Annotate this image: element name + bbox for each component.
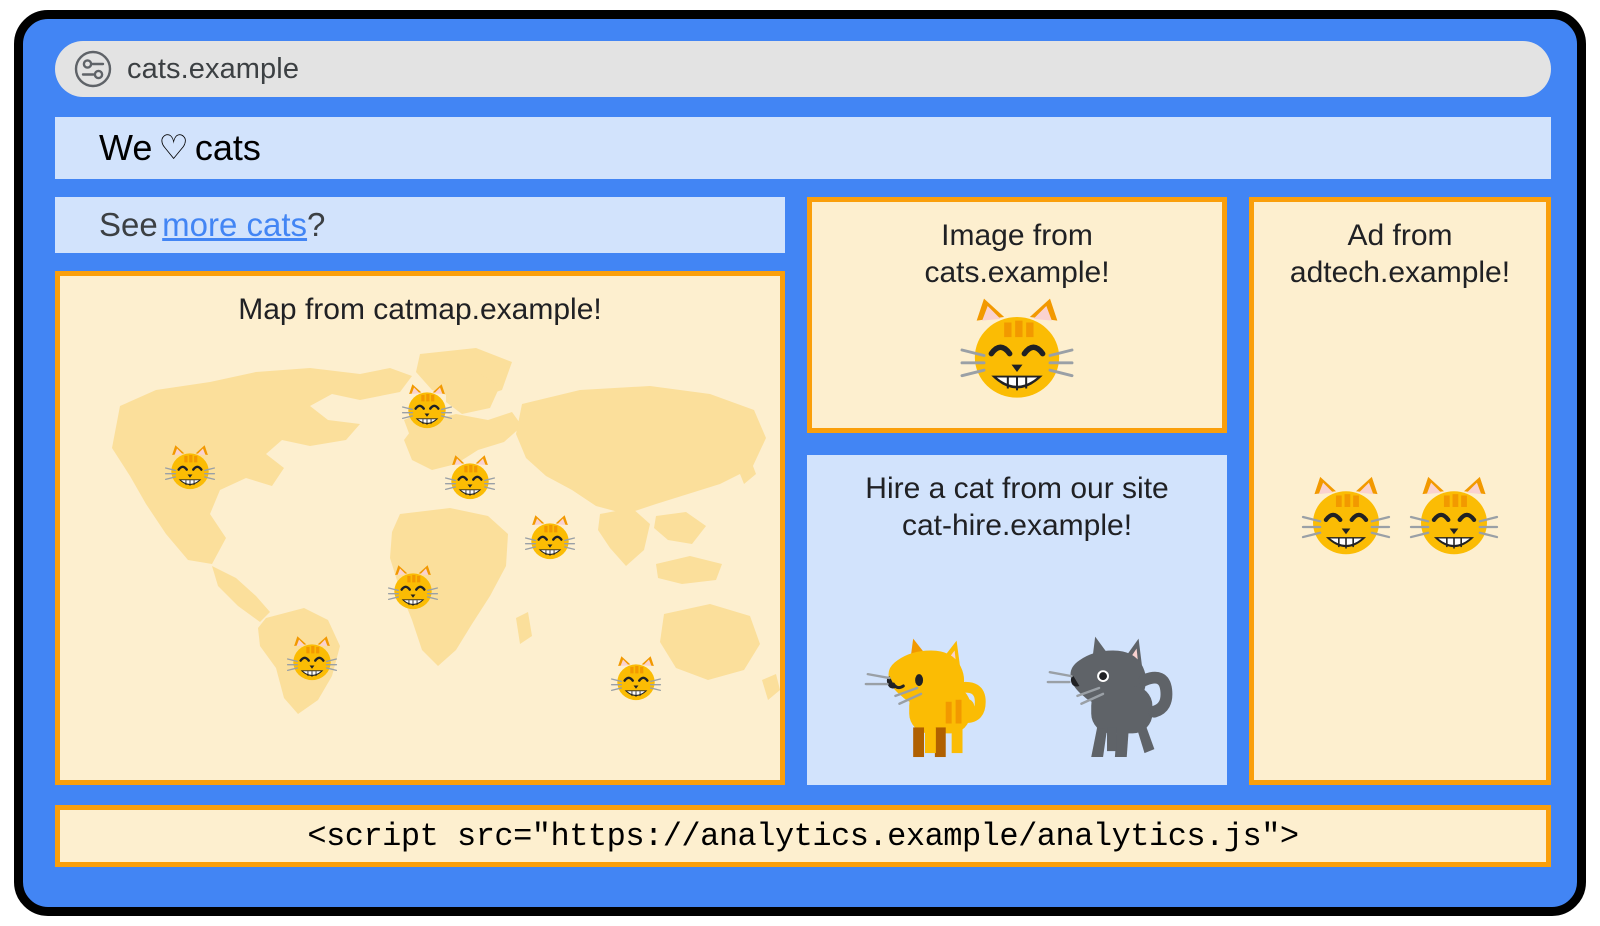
ad-panel-media <box>1254 474 1546 560</box>
heart-icon: ♡ <box>158 128 188 168</box>
orange-cat-icon <box>852 609 1000 761</box>
grinning-cat-icon <box>958 295 1076 405</box>
grinning-cat-icon <box>1408 474 1500 560</box>
more-cats-link[interactable]: more cats <box>162 206 307 244</box>
hero-banner: We ♡ cats <box>55 117 1551 179</box>
image-panel-title-line2: cats.example! <box>812 255 1222 292</box>
see-more-cats-bar: See more cats ? <box>55 197 785 253</box>
grinning-cat-icon <box>286 633 338 685</box>
grinning-cat-icon <box>444 452 496 504</box>
grinning-cat-icon <box>164 442 216 494</box>
map-panel[interactable]: Map from catmap.example! <box>55 271 785 785</box>
screenshot-root: cats.example We ♡ cats See more cats ? M… <box>0 0 1600 926</box>
page-content: See more cats ? Map from catmap.example! <box>55 197 1551 785</box>
tune-icon[interactable] <box>73 49 113 89</box>
gray-cat-icon <box>1034 609 1182 761</box>
right-column: Ad from adtech.example! <box>1249 197 1551 785</box>
left-column: See more cats ? Map from catmap.example! <box>55 197 785 785</box>
address-bar[interactable]: cats.example <box>55 41 1551 97</box>
link-prefix: See <box>99 206 158 244</box>
middle-column: Image from cats.example! <box>807 197 1227 785</box>
hire-panel[interactable]: Hire a cat from our site cat-hire.exampl… <box>807 455 1227 785</box>
link-suffix: ? <box>307 206 325 244</box>
hire-panel-media <box>807 609 1227 761</box>
image-panel-media <box>812 291 1222 405</box>
grinning-cat-icon <box>1300 474 1392 560</box>
grinning-cat-icon <box>524 512 576 564</box>
ad-panel-title-line1: Ad from <box>1254 202 1546 255</box>
grinning-cat-icon <box>387 562 439 614</box>
hire-panel-title-line1: Hire a cat from our site <box>807 455 1227 508</box>
hire-panel-title-line2: cat-hire.example! <box>807 508 1227 545</box>
ad-panel-title-line2: adtech.example! <box>1254 255 1546 292</box>
image-panel[interactable]: Image from cats.example! <box>807 197 1227 433</box>
ad-panel[interactable]: Ad from adtech.example! <box>1249 197 1551 785</box>
url-text[interactable]: cats.example <box>127 55 299 84</box>
hero-text-before: We <box>99 127 152 169</box>
script-tag-text: <script src="https://analytics.example/a… <box>307 818 1298 855</box>
image-panel-title-line1: Image from <box>812 202 1222 255</box>
browser-window: cats.example We ♡ cats See more cats ? M… <box>14 10 1586 916</box>
analytics-script-bar: <script src="https://analytics.example/a… <box>55 805 1551 867</box>
grinning-cat-icon <box>610 653 662 705</box>
grinning-cat-icon <box>401 381 453 433</box>
map-pin-layer <box>60 276 780 780</box>
hero-text-after: cats <box>195 127 261 169</box>
